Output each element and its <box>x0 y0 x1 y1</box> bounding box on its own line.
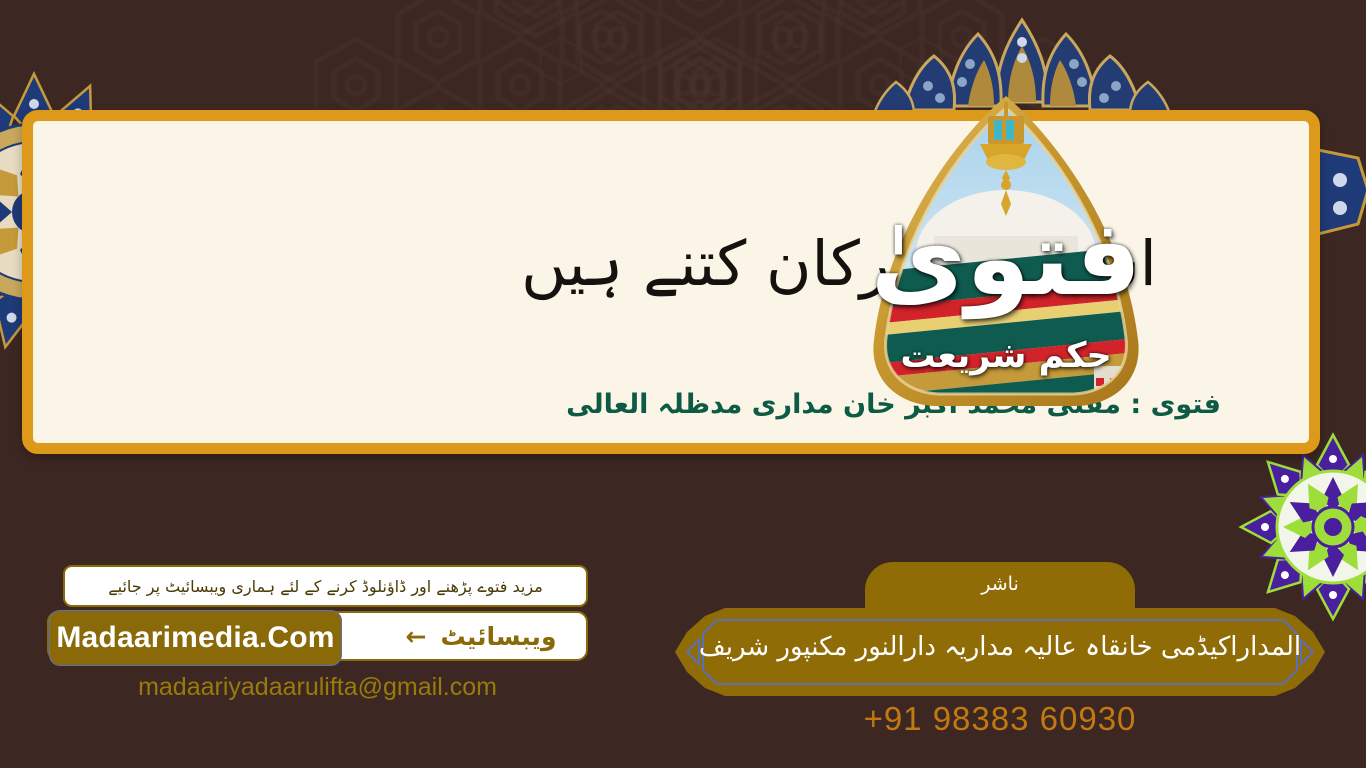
fatwa-poster: اسلام کے ارکان کتنے ہیں فتوی : مفتی محمد… <box>0 0 1366 768</box>
website-tagline: مزید فتوے پڑھنے اور ڈاؤنلوڈ کرنے کے لئے … <box>63 565 588 607</box>
mufti-attribution: فتوی : مفتی محمد اکبر خان مداری مدظلہ ال… <box>566 389 1221 420</box>
website-label-text: ویبسائیٹ <box>440 622 556 651</box>
publisher-cap: ناشر <box>865 562 1135 610</box>
publisher-name: المداراکیڈمی خانقاہ عالیہ مداریہ دارالنو… <box>665 632 1335 662</box>
mandala-ornament <box>1318 130 1366 290</box>
email-address[interactable]: madaariyadaarulifta@gmail.com <box>47 673 588 702</box>
arrow-left-icon: ← <box>406 624 427 649</box>
website-row: ویبسائیٹ ← Madaarimedia.Com <box>47 611 588 661</box>
publisher-block: ناشر المداراکیڈمی خانقاہ عالیہ مداریہ دا… <box>665 562 1335 738</box>
publisher-phone[interactable]: +91 98383 60930 <box>665 700 1335 738</box>
publisher-cap-label: ناشر <box>981 573 1018 595</box>
page-title: اسلام کے ارکان کتنے ہیں <box>489 225 1189 303</box>
website-block: مزید فتوے پڑھنے اور ڈاؤنلوڈ کرنے کے لئے … <box>47 565 588 702</box>
fatwa-card: اسلام کے ارکان کتنے ہیں فتوی : مفتی محمد… <box>22 110 1320 454</box>
website-url-button[interactable]: Madaarimedia.Com <box>49 610 342 666</box>
website-label-group: ویبسائیٹ ← <box>376 613 586 659</box>
publisher-banner: المداراکیڈمی خانقاہ عالیہ مداریہ دارالنو… <box>665 606 1335 698</box>
